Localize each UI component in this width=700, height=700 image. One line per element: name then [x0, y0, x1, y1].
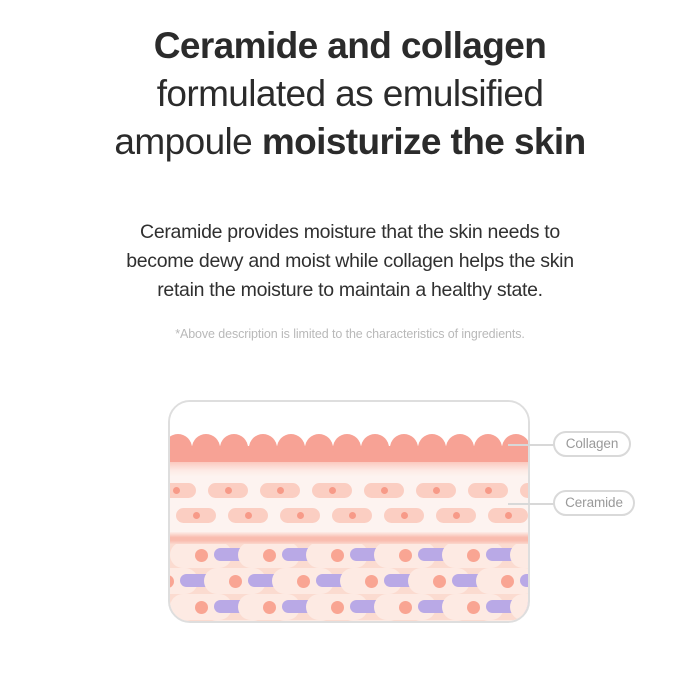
description-line-1: Ceramide provides moisture that the skin… — [0, 218, 700, 247]
dermis-cell — [510, 544, 528, 568]
ceramide-capsule — [416, 483, 456, 498]
ceramide-capsule — [364, 483, 404, 498]
dermis-lattice-pattern — [170, 544, 528, 621]
ceramide-capsule — [384, 508, 424, 523]
dermis-nucleus — [433, 575, 446, 588]
collagen-bead — [390, 434, 418, 462]
layer-dermis — [170, 544, 528, 621]
description-line-2: become dewy and moist while collagen hel… — [0, 247, 700, 276]
collagen-bead — [249, 434, 277, 462]
dermis-nucleus — [399, 601, 412, 614]
dermis-nucleus — [399, 549, 412, 562]
ceramide-capsule — [436, 508, 476, 523]
dermis-cell — [170, 620, 198, 621]
dermis-cell — [476, 620, 528, 621]
dermis-cell — [510, 594, 528, 620]
collagen-bead — [333, 434, 361, 462]
dermis-nucleus — [195, 601, 208, 614]
dermis-nucleus — [229, 575, 242, 588]
dermis-nucleus — [331, 601, 344, 614]
skin-layers — [170, 402, 528, 621]
headline-line-3: ampoule moisturize the skin — [0, 118, 700, 166]
ceramide-capsule — [168, 483, 196, 498]
ceramide-capsule — [468, 483, 508, 498]
collagen-bead — [474, 434, 502, 462]
headline-line-3-bold: moisturize the skin — [262, 121, 586, 162]
ceramide-capsule — [176, 508, 216, 523]
dermis-nucleus — [467, 549, 480, 562]
ceramide-capsule — [228, 508, 268, 523]
dermis-cell — [204, 620, 266, 621]
dermis-nucleus — [263, 549, 276, 562]
product-description-page: Ceramide and collagen formulated as emul… — [0, 0, 700, 700]
layer-air-gap — [170, 402, 528, 434]
collagen-leader-line — [508, 444, 556, 446]
headline-line-2: formulated as emulsified — [0, 70, 700, 118]
dermis-nucleus — [195, 549, 208, 562]
dermis-nucleus — [297, 575, 310, 588]
ceramide-capsule — [312, 483, 352, 498]
skin-cross-section-diagram: Collagen Ceramide — [0, 392, 700, 642]
collagen-bead — [418, 434, 446, 462]
headline-line-1: Ceramide and collagen — [0, 22, 700, 70]
collagen-bead — [277, 434, 305, 462]
dermis-cell — [340, 620, 402, 621]
collagen-bead — [446, 434, 474, 462]
layer-ceramide-epidermis — [170, 476, 528, 532]
description-line-3: retain the moisture to maintain a health… — [0, 276, 700, 305]
layer-gradient-band — [170, 462, 528, 476]
ceramide-capsule — [332, 508, 372, 523]
layer-collagen-beads — [168, 434, 530, 462]
dermis-nucleus — [501, 575, 514, 588]
label-ceramide[interactable]: Ceramide — [553, 490, 635, 516]
ceramide-capsule — [280, 508, 320, 523]
ceramide-capsule — [520, 483, 530, 498]
dermis-nucleus — [365, 575, 378, 588]
headline-line-3-light: ampoule — [114, 121, 261, 162]
ceramide-capsule — [488, 508, 528, 523]
ceramide-capsule — [208, 483, 248, 498]
dermis-nucleus — [263, 601, 276, 614]
collagen-fiber-capsule — [520, 574, 528, 587]
dermis-nucleus — [331, 549, 344, 562]
dermis-cell — [272, 620, 334, 621]
collagen-bead — [502, 434, 530, 462]
label-collagen[interactable]: Collagen — [553, 431, 631, 457]
footnote-disclaimer: *Above description is limited to the cha… — [0, 327, 700, 341]
page-headline: Ceramide and collagen formulated as emul… — [0, 22, 700, 166]
ceramide-capsule — [260, 483, 300, 498]
dermis-nucleus — [467, 601, 480, 614]
skin-diagram-card — [168, 400, 530, 623]
collagen-bead — [192, 434, 220, 462]
layer-separator-band — [170, 532, 528, 544]
ceramide-leader-line — [508, 503, 556, 505]
description-paragraph: Ceramide provides moisture that the skin… — [0, 218, 700, 305]
collagen-bead — [305, 434, 333, 462]
dermis-cell — [408, 620, 470, 621]
